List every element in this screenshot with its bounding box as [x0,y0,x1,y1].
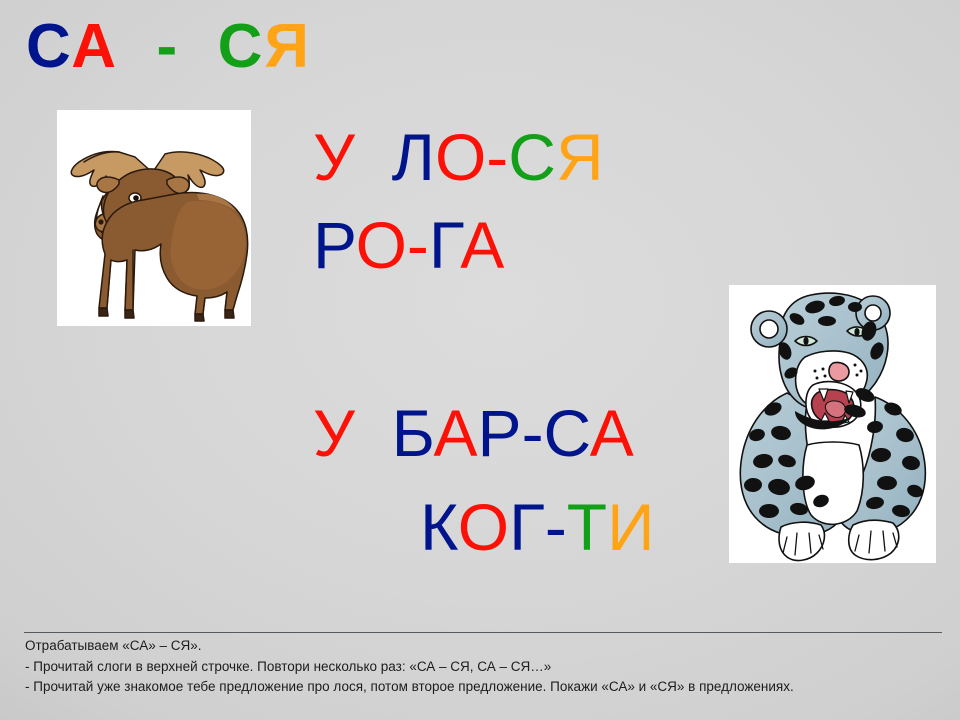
glyph: С [218,12,265,81]
glyph: Я [264,12,311,81]
word-u-barsa: У БАР-СА [313,400,634,466]
notes-line: - Прочитай уже знакомое тебе предложение… [25,677,950,698]
glyph: - [156,12,179,81]
glyph: Г [429,208,460,282]
snow-leopard-illustration [729,285,936,563]
glyph: - [522,396,544,470]
slide-canvas: СА - СЯ [0,0,960,720]
glyph [355,396,392,470]
glyph [355,120,392,194]
glyph: - [407,208,429,282]
teacher-notes: Отрабатываем «СА» – СЯ». - Прочитай слог… [25,636,950,698]
glyph: Р [313,208,356,282]
glyph: А [434,396,478,470]
glyph: - [486,120,508,194]
glyph: Р [478,396,522,470]
word-kogti: КОГ-ТИ [420,494,655,560]
glyph [179,12,217,81]
glyph: У [313,120,355,194]
glyph [118,12,156,81]
glyph: А [590,396,634,470]
glyph: Б [392,396,434,470]
glyph: О [356,208,407,282]
glyph: С [544,396,590,470]
glyph: О [435,120,486,194]
word-roga: РО-ГА [313,212,504,278]
glyph: О [458,490,509,564]
word-u-losya: У ЛО-СЯ [313,124,604,190]
glyph: С [508,120,556,194]
glyph: К [420,490,458,564]
glyph: Т [567,490,607,564]
notes-divider [24,632,942,633]
notes-line: Отрабатываем «СА» – СЯ». [25,636,950,657]
glyph: А [71,12,118,81]
glyph: - [545,490,567,564]
moose-illustration [57,110,251,326]
glyph: У [313,396,355,470]
glyph: Г [509,490,545,564]
glyph: И [607,490,654,564]
syllable-pair-heading: СА - СЯ [26,16,311,78]
glyph: Я [556,120,604,194]
glyph: Л [392,120,435,194]
notes-line: - Прочитай слоги в верхней строчке. Повт… [25,657,950,678]
glyph: А [460,208,504,282]
glyph: С [26,12,71,81]
